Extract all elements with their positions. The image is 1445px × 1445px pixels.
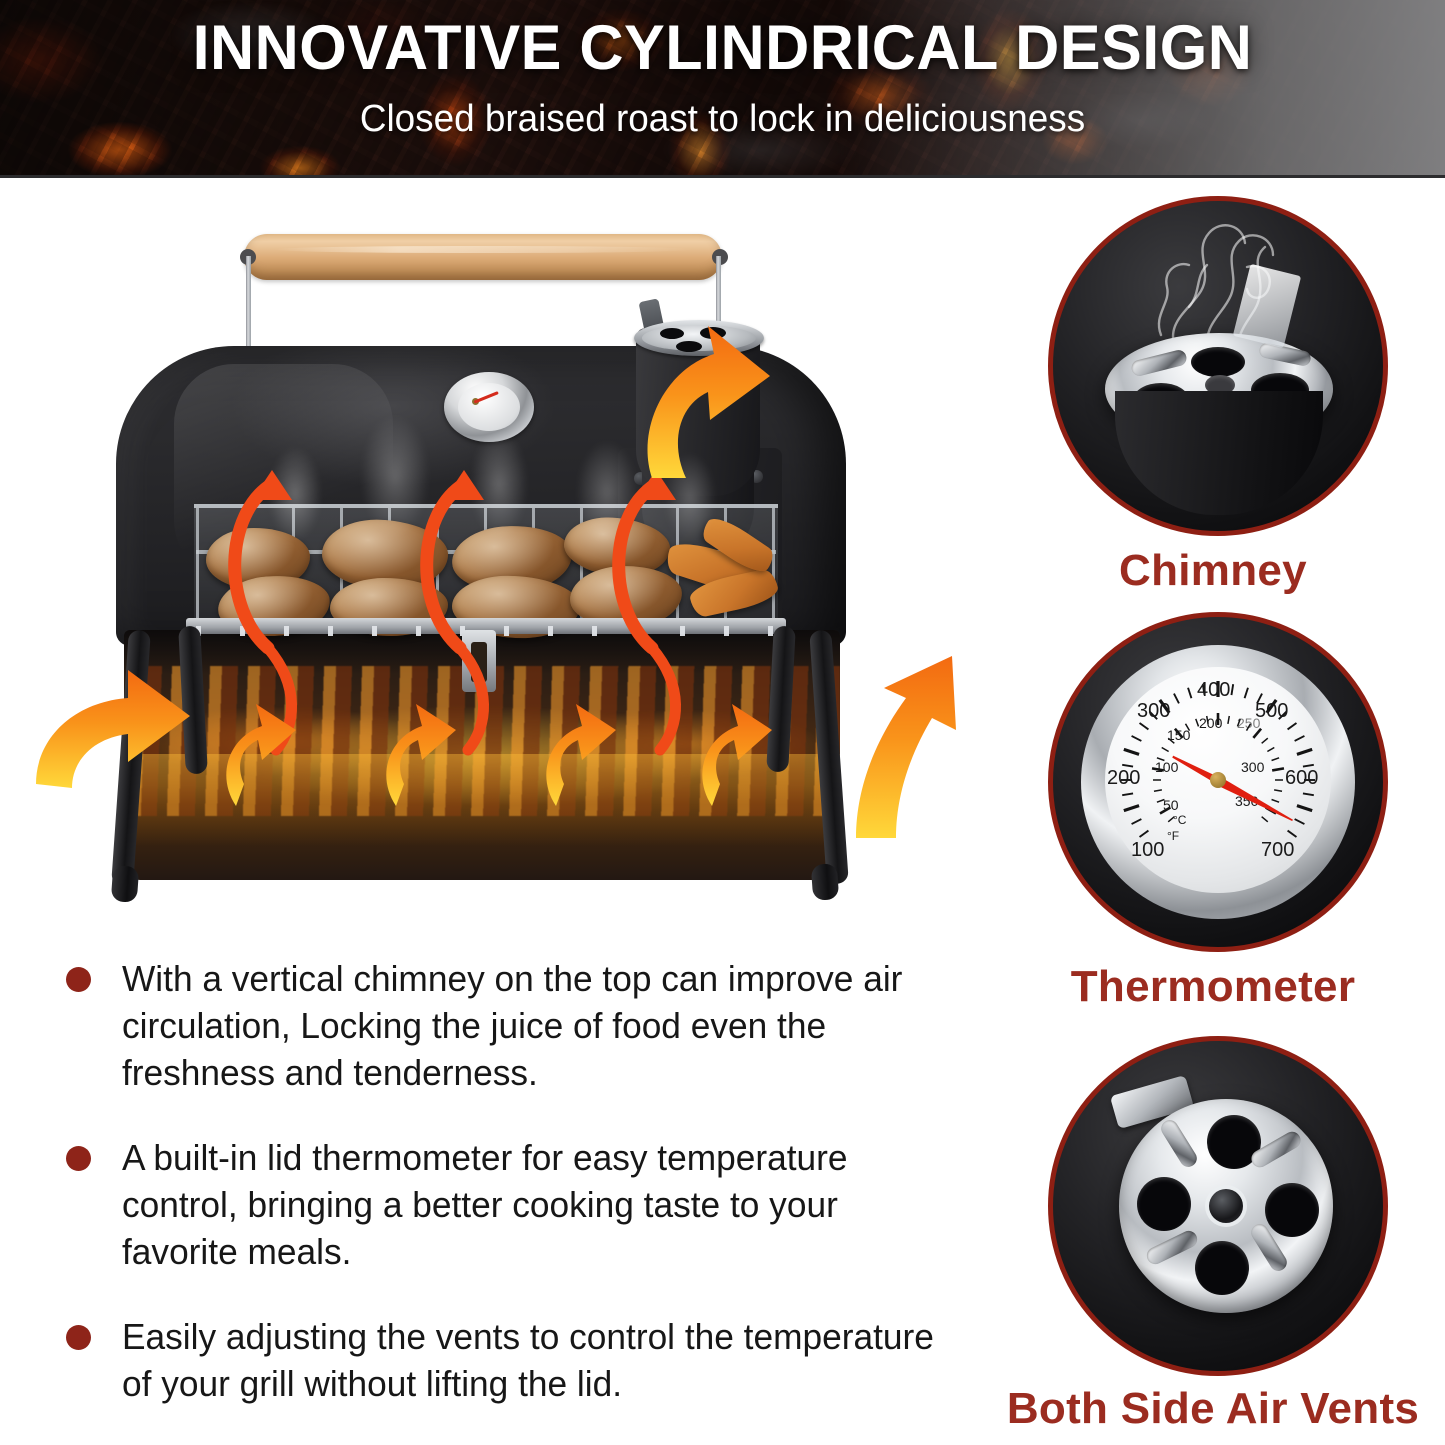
therm-outer-400: 400 [1197, 679, 1230, 702]
air-vent-circle-photo [1048, 1036, 1388, 1376]
air-circulation-arrows [0, 178, 990, 948]
therm-unit-fahrenheit: °F [1167, 829, 1179, 843]
therm-inner-50: 50 [1163, 797, 1179, 813]
thermometer-dial: 400 300 500 200 600 100 700 200 150 100 … [1105, 667, 1331, 893]
vent-slot [1158, 1117, 1200, 1170]
intake-arrow-left [36, 670, 190, 788]
therm-inner-250: 250 [1237, 715, 1260, 731]
chimney-cylinder [1115, 391, 1323, 515]
vent-hole [1137, 1177, 1191, 1231]
therm-outer-700: 700 [1261, 839, 1294, 862]
vent-center-rivet [1209, 1189, 1243, 1223]
thermometer-hub [1210, 772, 1226, 788]
chimney-circle-photo [1048, 196, 1388, 536]
vent-hole [1265, 1183, 1319, 1237]
feature-label-air-vents: Both Side Air Vents [978, 1382, 1445, 1436]
therm-inner-200: 200 [1199, 715, 1222, 731]
list-item: With a vertical chimney on the top can i… [58, 955, 958, 1096]
therm-inner-100: 100 [1155, 759, 1178, 775]
therm-inner-150: 150 [1167, 727, 1190, 743]
bullet-marker-icon [66, 1146, 91, 1171]
feature-label-thermometer: Thermometer [1048, 960, 1378, 1014]
header-banner: INNOVATIVE CYLINDRICAL DESIGN Closed bra… [0, 0, 1445, 178]
feature-thermometer: 400 300 500 200 600 100 700 200 150 100 … [1048, 612, 1388, 1014]
therm-outer-300: 300 [1137, 700, 1170, 723]
therm-inner-300: 300 [1241, 759, 1264, 775]
bullet-text: A built-in lid thermometer for easy temp… [122, 1134, 941, 1275]
bullet-marker-icon [66, 967, 91, 992]
list-item: A built-in lid thermometer for easy temp… [58, 1134, 958, 1275]
bullet-text: Easily adjusting the vents to control th… [122, 1313, 941, 1407]
list-item: Easily adjusting the vents to control th… [58, 1313, 958, 1407]
vent-hole [1195, 1241, 1249, 1295]
air-vent-disc [1119, 1099, 1333, 1313]
therm-unit-celsius: °C [1173, 813, 1186, 827]
vent-slot [1144, 1228, 1200, 1267]
bullet-text: With a vertical chimney on the top can i… [122, 955, 941, 1096]
bullet-marker-icon [66, 1325, 91, 1350]
feature-bullet-list: With a vertical chimney on the top can i… [58, 955, 958, 1445]
page-title: INNOVATIVE CYLINDRICAL DESIGN [22, 12, 1424, 84]
therm-outer-600: 600 [1285, 767, 1318, 790]
therm-outer-200: 200 [1107, 767, 1140, 790]
page-subtitle: Closed braised roast to lock in deliciou… [22, 96, 1424, 142]
outflow-arrow-right [856, 656, 956, 838]
grill-product-image [0, 178, 990, 948]
feature-air-vents: Both Side Air Vents [1048, 1036, 1445, 1436]
vent-slot [1130, 348, 1188, 377]
vent-hole [1191, 347, 1245, 377]
feature-chimney: Chimney [1048, 196, 1388, 598]
feature-label-chimney: Chimney [1048, 544, 1378, 598]
chimney-arrow [647, 326, 770, 478]
thermometer-circle-photo: 400 300 500 200 600 100 700 200 150 100 … [1048, 612, 1388, 952]
infographic-page: INNOVATIVE CYLINDRICAL DESIGN Closed bra… [0, 0, 1445, 1445]
therm-outer-100: 100 [1131, 839, 1164, 862]
